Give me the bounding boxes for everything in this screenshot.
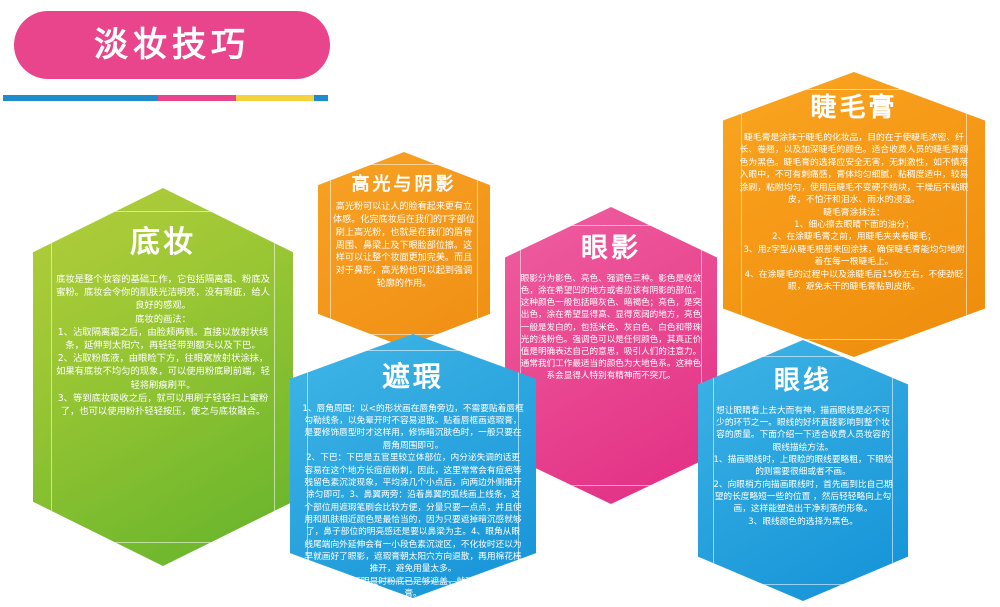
page-title-pill: 淡妆技巧 [14,11,330,79]
hex-card-dizhuang-body: 底妆是整个妆容的基础工作，它包括隔离霜、粉底及蜜粉。底妆会令你的肌肤光洁明亮，没… [33,273,293,418]
divider-segment-yellow-mid [236,95,314,101]
hex-card-dizhuang[interactable]: 底妆 底妆是整个妆容的基础工作，它包括隔离霜、粉底及蜜粉。底妆会令你的肌肤光洁明… [33,188,293,566]
hex-card-dizhuang-heading: 底妆 [130,226,196,259]
hex-card-zhexia[interactable]: 遮瑕 1、唇角周围：以<的形状画在唇角旁边，不需要贴着唇框勾勒线条，以免晕开时不… [290,334,536,598]
hex-card-yanying-body: 眼影分为影色、亮色、强调色三种。影色是收敛色，涂在希望凹的地方或者应该有阴影的部… [505,273,717,383]
hex-card-yanxian-heading: 眼线 [774,367,832,396]
divider-segment-blue-left [3,95,158,101]
divider-segment-pink-mid [158,95,236,101]
hex-card-gaoguang-body: 高光粉可以让人的脸看起来更有立体感。化完底妆后在我们的T字部位刷上高光粉，也就是… [318,201,490,291]
hex-card-yanying-heading: 眼影 [581,234,641,264]
infographic-canvas: 淡妆技巧 底妆 底妆是整个妆容的基础工作，它包括隔离霜、粉底及蜜粉。底妆会令你的… [0,0,1000,607]
hex-card-jiemaogao-body: 睫毛膏是涂抹于睫毛的化妆品，目的在于使睫毛浓密、纤长、卷翘，以及加深睫毛的颜色。… [723,132,985,294]
color-divider [3,95,328,101]
hex-card-zhexia-heading: 遮瑕 [382,362,444,393]
hex-card-yanxian[interactable]: 眼线 想让眼睛看上去大而有神，描画眼线是必不可少的环节之一。眼线的好坏直接影响到… [698,340,908,601]
hex-card-zhexia-body: 1、唇角周围：以<的形状画在唇角旁边，不需要贴着唇框勾勒线条，以免晕开时不容易退… [290,403,536,598]
hex-card-gaoguang-heading: 高光与阴影 [352,175,457,195]
hex-card-gaoguang[interactable]: 高光与阴影 高光粉可以让人的脸看起来更有立体感。化完底妆后在我们的T字部位刷上高… [318,152,490,347]
hex-card-yanxian-body: 想让眼睛看上去大而有神，描画眼线是必不可少的环节之一。眼线的好坏直接影响到整个妆… [698,405,908,528]
hex-card-jiemaogao[interactable]: 睫毛膏 睫毛膏是涂抹于睫毛的化妆品，目的在于使睫毛浓密、纤长、卷翘，以及加深睫毛… [723,72,985,357]
divider-segment-blue-right [314,95,328,101]
page-title: 淡妆技巧 [94,28,250,62]
hex-card-jiemaogao-heading: 睫毛膏 [810,94,897,123]
hex-card-yanying[interactable]: 眼影 眼影分为影色、亮色、强调色三种。影色是收敛色，涂在希望凹的地方或者应该有阴… [505,207,717,504]
